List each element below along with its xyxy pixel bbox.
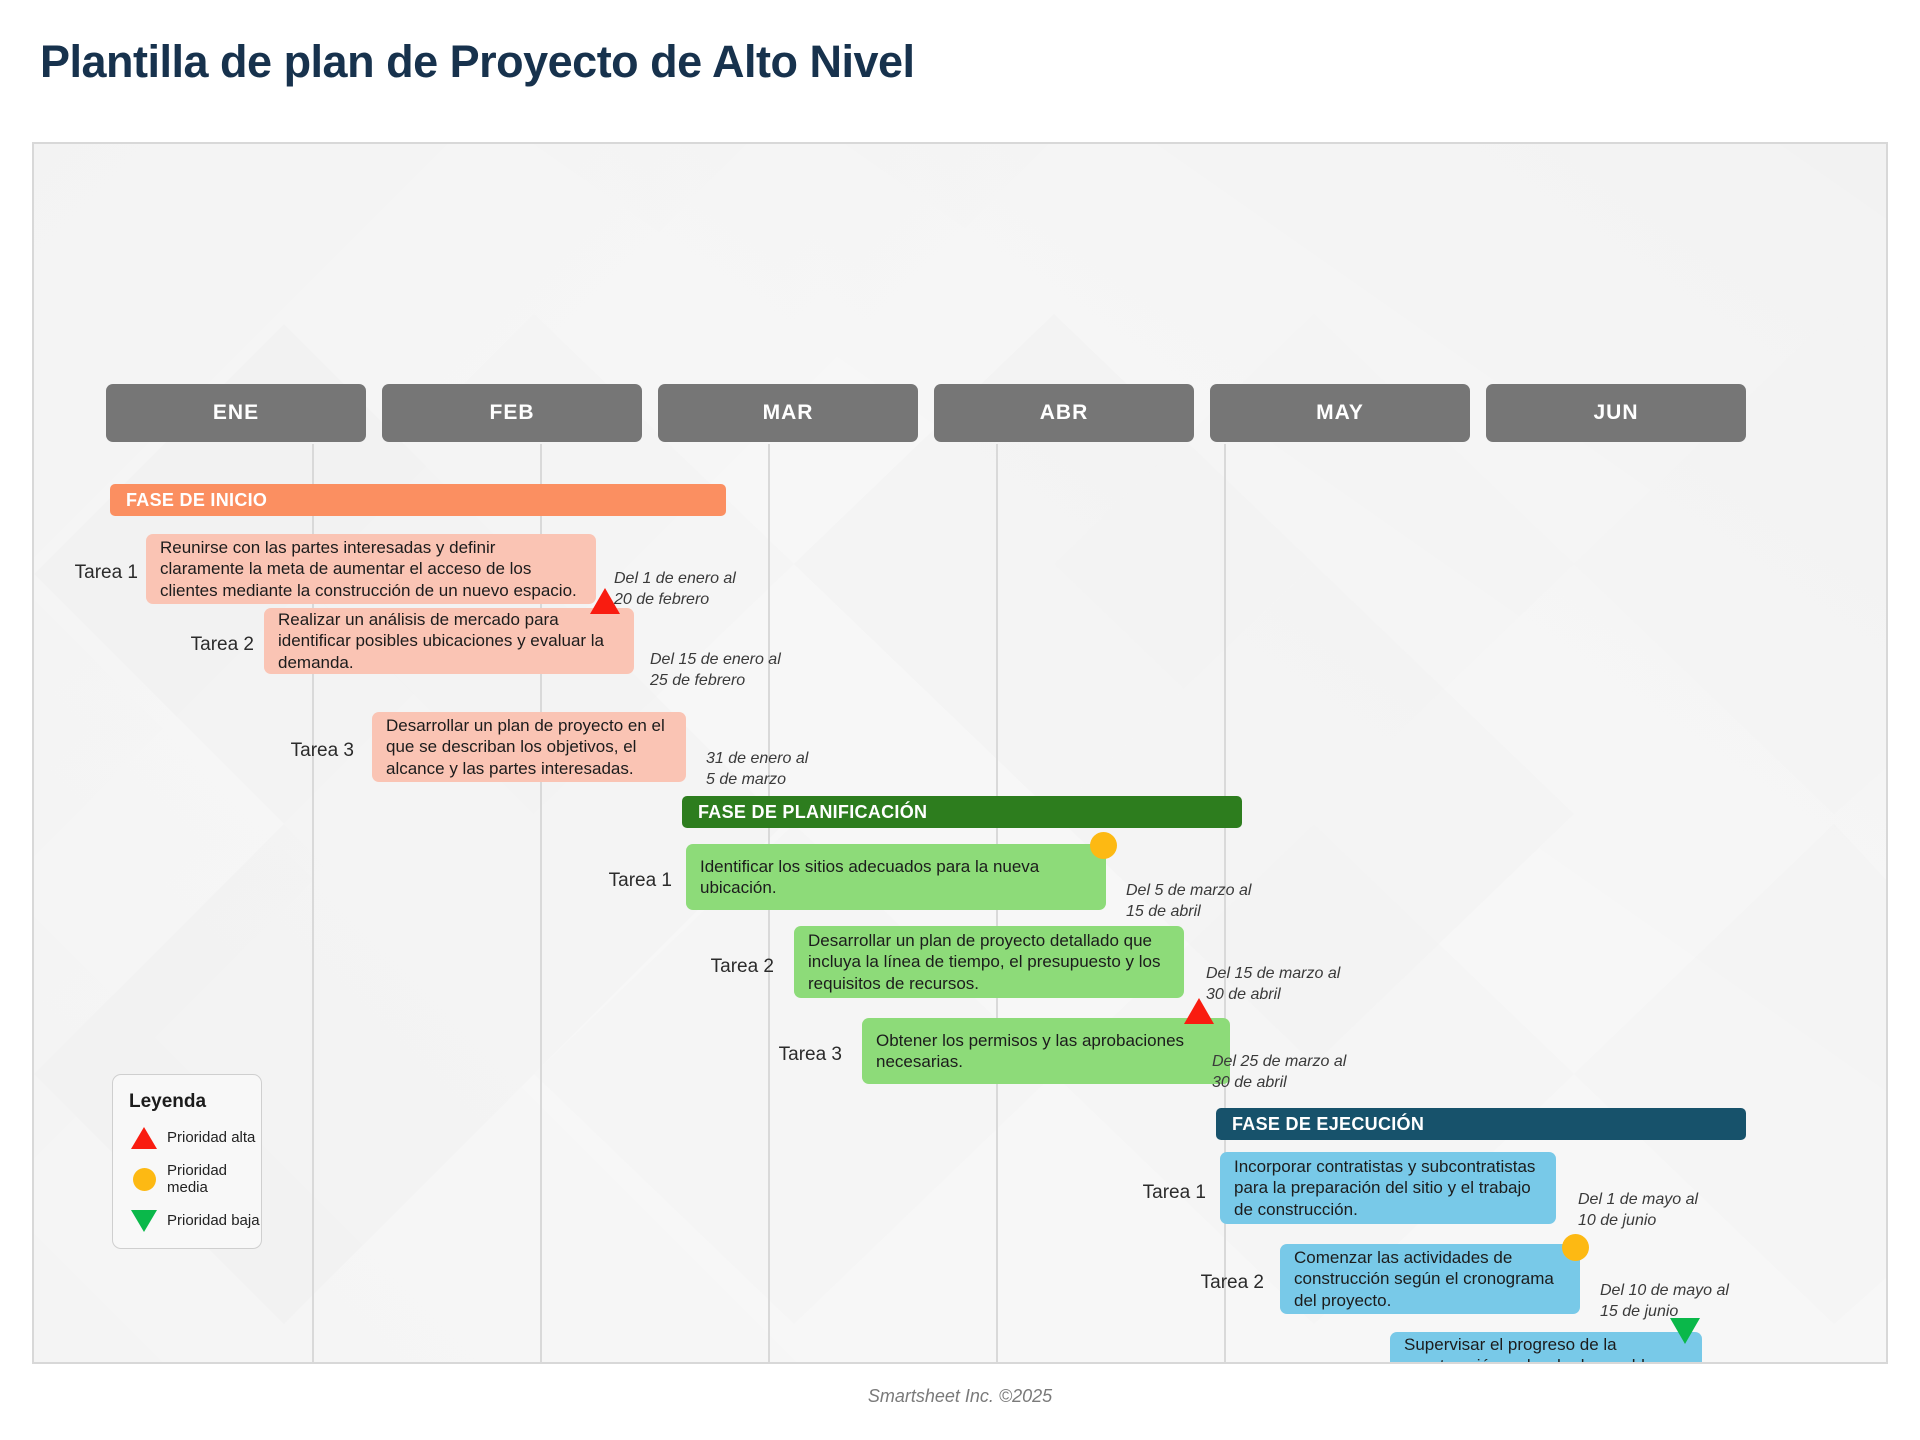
priority-high-marker-inicio-2 <box>590 588 620 614</box>
task-text: Desarrollar un plan de proyecto detallad… <box>808 930 1170 994</box>
phase-banner-ejecucion[interactable]: FASE DE EJECUCIÓN <box>1216 1108 1746 1140</box>
task-label-ejecucion-3: Tarea 3 <box>1286 1360 1376 1364</box>
month-label: FEB <box>490 401 535 425</box>
month-header-jun[interactable]: JUN <box>1486 384 1746 442</box>
task-date-ejecucion-1: Del 1 de mayo al 10 de junio <box>1578 1170 1748 1231</box>
task-text: Incorporar contratistas y subcontratista… <box>1234 1156 1542 1220</box>
task-text: Comenzar las actividades de construcción… <box>1294 1247 1566 1311</box>
task-bar-planificacion-2[interactable]: Desarrollar un plan de proyecto detallad… <box>794 926 1184 998</box>
month-header-feb[interactable]: FEB <box>382 384 642 442</box>
priority-medium-marker-planificacion-1 <box>1090 832 1117 859</box>
task-date-planificacion-3: Del 25 de marzo al 30 de abril <box>1212 1032 1392 1093</box>
timeline-canvas: ENE FEB MAR ABR MAY JUN FASE DE INICIO T… <box>32 142 1888 1364</box>
month-header-ene[interactable]: ENE <box>106 384 366 442</box>
task-bar-inicio-1[interactable]: Reunirse con las partes interesadas y de… <box>146 534 596 604</box>
month-header-mar[interactable]: MAR <box>658 384 918 442</box>
task-bar-ejecucion-2[interactable]: Comenzar las actividades de construcción… <box>1280 1244 1580 1314</box>
task-label-inicio-3: Tarea 3 <box>264 740 354 762</box>
task-bar-ejecucion-1[interactable]: Incorporar contratistas y subcontratista… <box>1220 1152 1556 1224</box>
phase-banner-inicio[interactable]: FASE DE INICIO <box>110 484 726 516</box>
legend-item-high: Prioridad alta <box>129 1127 261 1149</box>
task-bar-planificacion-1[interactable]: Identificar los sitios adecuados para la… <box>686 844 1106 910</box>
phase-title: FASE DE INICIO <box>126 490 267 511</box>
month-header-may[interactable]: MAY <box>1210 384 1470 442</box>
phase-title: FASE DE EJECUCIÓN <box>1232 1114 1424 1135</box>
legend-label: Prioridad baja <box>167 1212 260 1229</box>
priority-medium-marker-ejecucion-2 <box>1562 1234 1589 1261</box>
task-date-ejecucion-3: Del 25 de mayo al 30 de junio <box>1716 1348 1876 1364</box>
task-label-inicio-2: Tarea 2 <box>164 634 254 656</box>
task-bar-planificacion-3[interactable]: Obtener los permisos y las aprobaciones … <box>862 1018 1230 1084</box>
task-date-planificacion-2: Del 15 de marzo al 30 de abril <box>1206 944 1386 1005</box>
task-text: Realizar un análisis de mercado para ide… <box>278 609 620 673</box>
task-label-planificacion-3: Tarea 3 <box>752 1044 842 1066</box>
legend-box: Leyenda Prioridad alta Prioridad media P… <box>112 1074 262 1249</box>
project-plan-page: Plantilla de plan de Proyecto de Alto Ni… <box>0 0 1920 1440</box>
legend-item-medium: Prioridad media <box>129 1162 261 1197</box>
task-date-planificacion-1: Del 5 de marzo al 15 de abril <box>1126 861 1296 922</box>
legend-title: Leyenda <box>129 1091 261 1113</box>
legend-item-low: Prioridad baja <box>129 1210 261 1232</box>
page-title: Plantilla de plan de Proyecto de Alto Ni… <box>40 36 915 88</box>
footer-copyright: Smartsheet Inc. ©2025 <box>0 1386 1920 1407</box>
month-header-abr[interactable]: ABR <box>934 384 1194 442</box>
triangle-up-icon <box>129 1127 159 1149</box>
task-text: Reunirse con las partes interesadas y de… <box>160 537 582 601</box>
task-bar-inicio-2[interactable]: Realizar un análisis de mercado para ide… <box>264 608 634 674</box>
month-label: MAY <box>1316 401 1364 425</box>
task-text: Identificar los sitios adecuados para la… <box>700 856 1092 899</box>
month-label: MAR <box>763 401 814 425</box>
task-text: Obtener los permisos y las aprobaciones … <box>876 1030 1216 1073</box>
month-label: ENE <box>213 401 259 425</box>
task-bar-ejecucion-3[interactable]: Supervisar el progreso de la construcció… <box>1390 1332 1702 1364</box>
task-label-ejecucion-1: Tarea 1 <box>1116 1182 1206 1204</box>
task-date-inicio-1: Del 1 de enero al 20 de febrero <box>614 549 774 610</box>
task-label-planificacion-1: Tarea 1 <box>582 870 672 892</box>
task-label-ejecucion-2: Tarea 2 <box>1174 1272 1264 1294</box>
task-text: Desarrollar un plan de proyecto en el qu… <box>386 715 672 779</box>
month-label: ABR <box>1040 401 1089 425</box>
phase-title: FASE DE PLANIFICACIÓN <box>698 802 927 823</box>
triangle-down-icon <box>129 1210 159 1232</box>
task-bar-inicio-3[interactable]: Desarrollar un plan de proyecto en el qu… <box>372 712 686 782</box>
task-label-inicio-1: Tarea 1 <box>48 562 138 584</box>
priority-low-marker-ejecucion-3 <box>1670 1318 1700 1344</box>
task-text: Supervisar el progreso de la construcció… <box>1404 1334 1688 1364</box>
legend-label: Prioridad media <box>167 1162 227 1197</box>
priority-high-marker-planificacion-3 <box>1184 998 1214 1024</box>
circle-icon <box>129 1168 159 1191</box>
task-date-inicio-3: 31 de enero al 5 de marzo <box>706 729 866 790</box>
task-date-ejecucion-2: Del 10 de mayo al 15 de junio <box>1600 1261 1770 1322</box>
task-label-planificacion-2: Tarea 2 <box>684 956 774 978</box>
task-date-inicio-2: Del 15 de enero al 25 de febrero <box>650 630 820 691</box>
legend-label: Prioridad alta <box>167 1129 255 1146</box>
phase-banner-planificacion[interactable]: FASE DE PLANIFICACIÓN <box>682 796 1242 828</box>
month-label: JUN <box>1593 401 1638 425</box>
